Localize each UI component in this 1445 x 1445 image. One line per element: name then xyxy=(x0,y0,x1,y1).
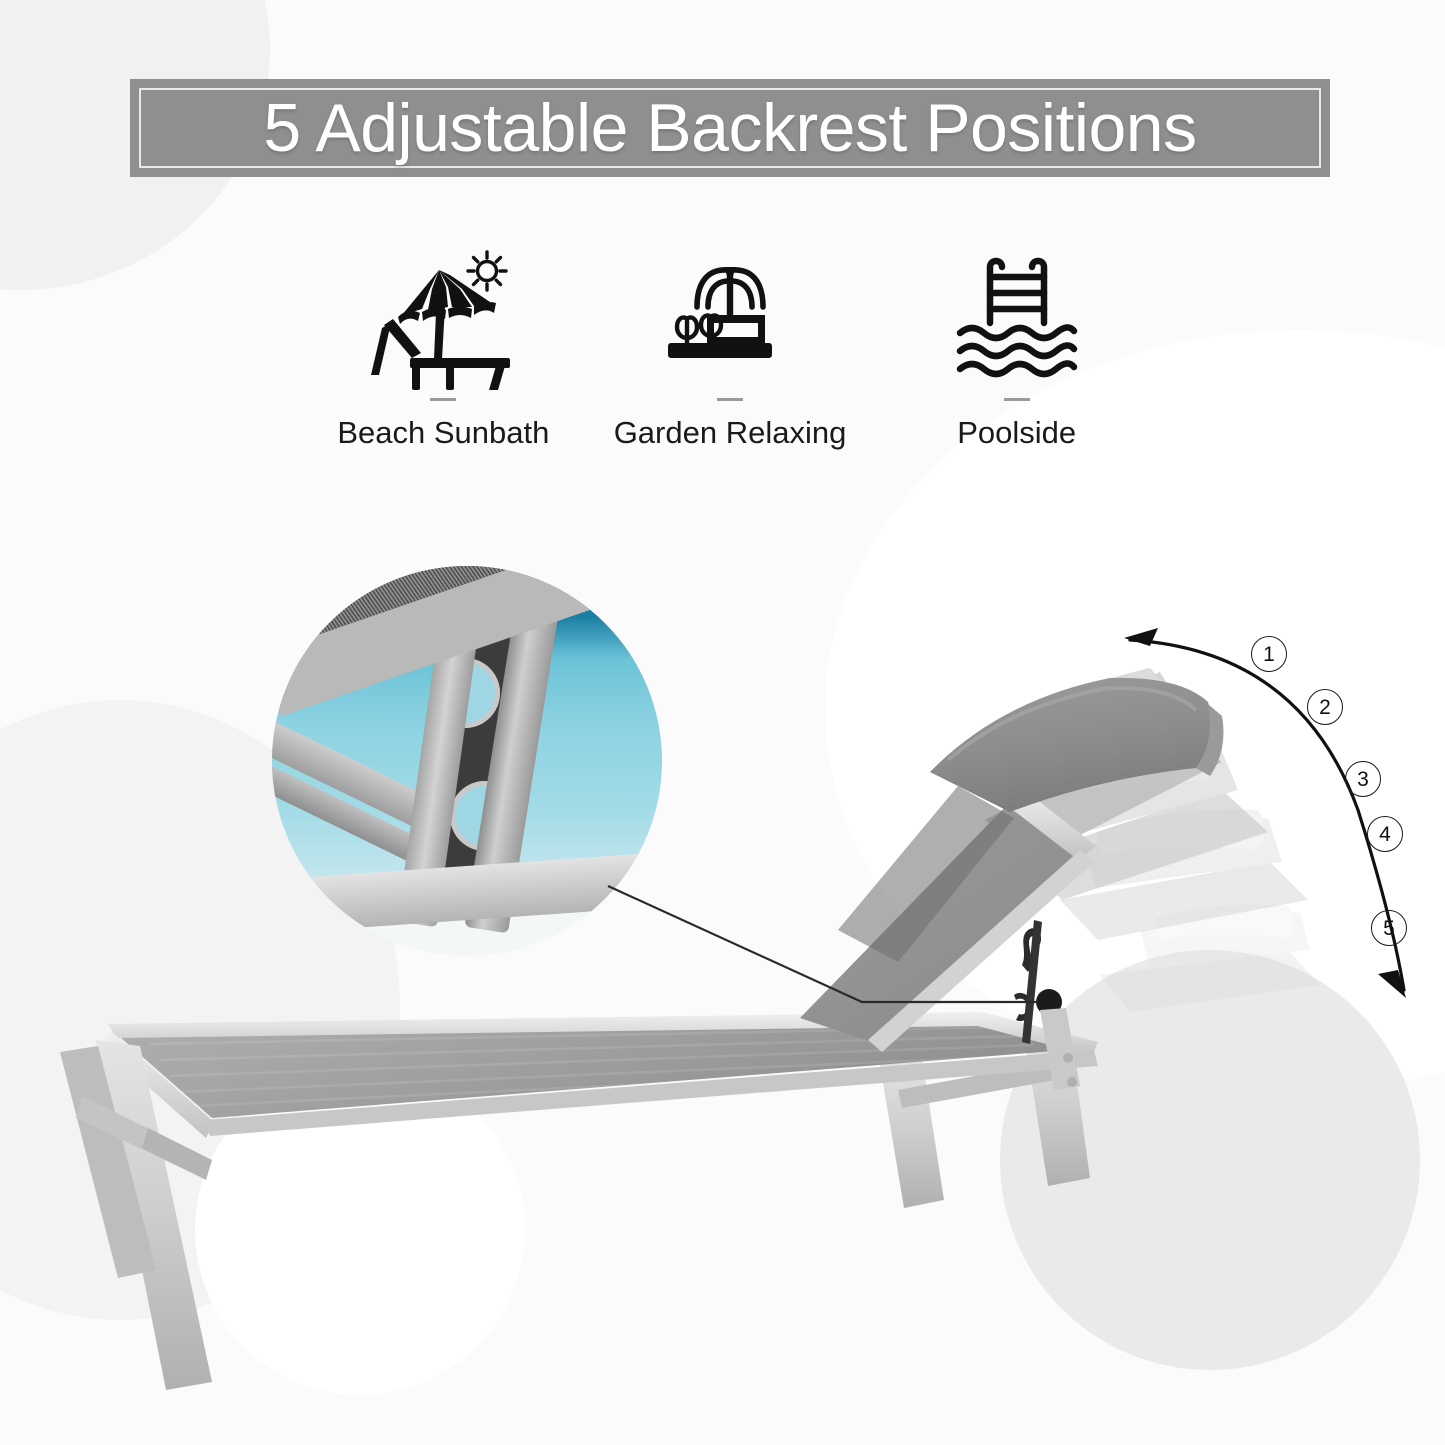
infographic-canvas: 5 Adjustable Backrest Positions xyxy=(0,0,1445,1445)
title-banner: 5 Adjustable Backrest Positions xyxy=(130,79,1330,177)
page-title: 5 Adjustable Backrest Positions xyxy=(263,94,1196,162)
position-marker-3: 3 xyxy=(1345,761,1381,797)
position-marker-2: 2 xyxy=(1307,689,1343,725)
position-marker-1: 1 xyxy=(1251,636,1287,672)
product-photo-chaise-lounger xyxy=(0,0,1445,1445)
strut-rivet-upper xyxy=(1063,1053,1073,1063)
position-marker-5: 5 xyxy=(1371,910,1407,946)
strut-rivet-lower xyxy=(1067,1077,1077,1087)
backrest-ratchet-closeup xyxy=(272,566,662,956)
position-marker-4: 4 xyxy=(1367,816,1403,852)
